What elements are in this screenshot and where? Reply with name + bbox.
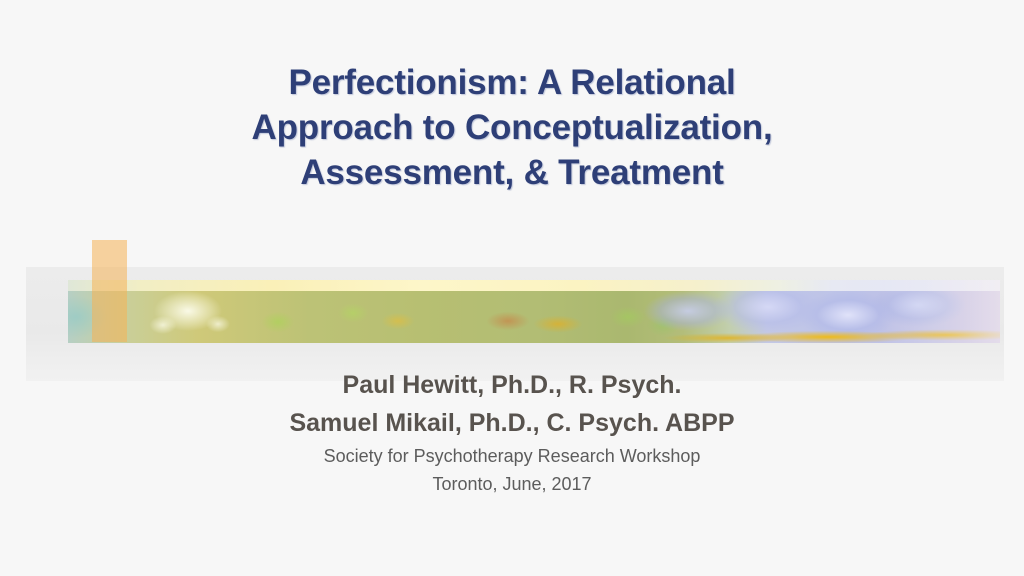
photo-right-fade: [880, 280, 1000, 343]
author-line-1: Paul Hewitt, Ph.D., R. Psych.: [0, 366, 1024, 404]
title-line-1: Perfectionism: A Relational: [0, 60, 1024, 105]
decorative-nature-photo: [68, 280, 1000, 343]
title-line-3: Assessment, & Treatment: [0, 150, 1024, 195]
title-line-2: Approach to Conceptualization,: [0, 105, 1024, 150]
author-line-2: Samuel Mikail, Ph.D., C. Psych. ABPP: [0, 404, 1024, 442]
venue-line-1: Society for Psychotherapy Research Works…: [0, 442, 1024, 470]
orange-accent-bar: [92, 240, 127, 342]
page-title: Perfectionism: A Relational Approach to …: [0, 60, 1024, 195]
author-block: Paul Hewitt, Ph.D., R. Psych. Samuel Mik…: [0, 366, 1024, 498]
presentation-slide: Perfectionism: A Relational Approach to …: [0, 0, 1024, 576]
venue-line-2: Toronto, June, 2017: [0, 470, 1024, 498]
photo-foliage-band: [68, 291, 1000, 343]
